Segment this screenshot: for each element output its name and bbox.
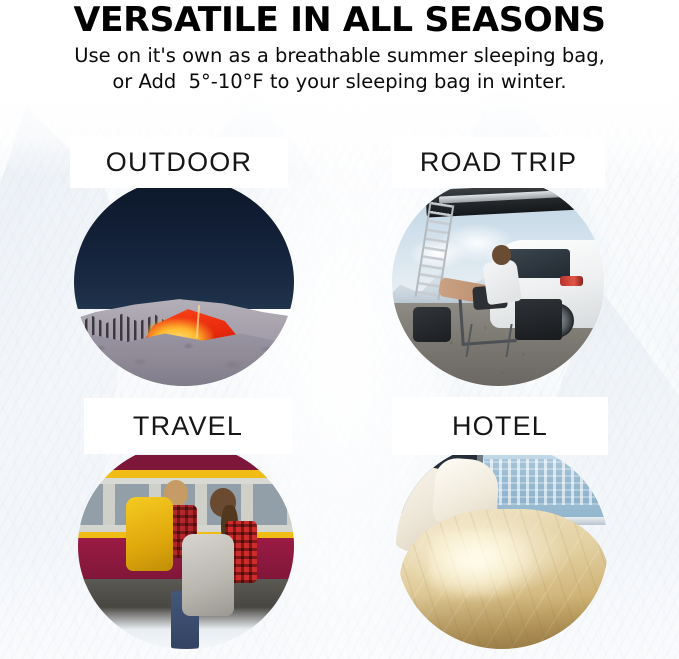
- label-box-road-trip: ROAD TRIP: [392, 137, 605, 188]
- subtitle-line-1: Use on it's own as a breathable summer s…: [0, 44, 679, 69]
- train-roof-stripe: [78, 455, 294, 469]
- photo-circle-outdoor: [74, 178, 294, 386]
- photo-circle-hotel: [396, 443, 608, 649]
- photo-circle-road-trip: [392, 178, 604, 386]
- train-yellow-stripe-top: [78, 470, 294, 478]
- promo-image-root: VERSATILE IN ALL SEASONS Use on it's own…: [0, 0, 679, 659]
- person-head: [492, 245, 511, 266]
- label-road-trip: ROAD TRIP: [420, 149, 577, 176]
- label-hotel: HOTEL: [452, 413, 548, 440]
- scene-travel-train: [78, 443, 294, 649]
- foreground-rocks: [74, 332, 294, 386]
- storage-box: [515, 299, 562, 341]
- duvet-shadow: [396, 595, 608, 649]
- duvet-highlight: [430, 530, 532, 600]
- city-view: [481, 459, 600, 504]
- page-title: VERSATILE IN ALL SEASONS: [0, 0, 679, 37]
- yellow-backpack: [126, 497, 174, 571]
- label-box-travel: TRAVEL: [84, 398, 292, 454]
- scene-outdoor-tent: [74, 178, 294, 386]
- scene-hotel-bed: [396, 443, 608, 649]
- subtitle-line-2: or Add 5°-10°F to your sleeping bag in w…: [0, 70, 679, 95]
- night-sky: [74, 178, 294, 309]
- label-outdoor: OUTDOOR: [106, 149, 252, 176]
- header: VERSATILE IN ALL SEASONS Use on it's own…: [0, 0, 679, 94]
- label-box-outdoor: OUTDOOR: [70, 137, 288, 188]
- grey-backpack: [182, 534, 234, 616]
- scene-road-trip-car: [392, 178, 604, 386]
- backpack-on-ground: [413, 307, 451, 342]
- label-travel: TRAVEL: [133, 413, 243, 440]
- photo-circle-travel: [78, 443, 294, 649]
- camp-chair-legs: [466, 324, 514, 357]
- person-torso: [483, 259, 522, 305]
- car-taillight: [560, 276, 583, 286]
- label-box-hotel: HOTEL: [392, 397, 608, 455]
